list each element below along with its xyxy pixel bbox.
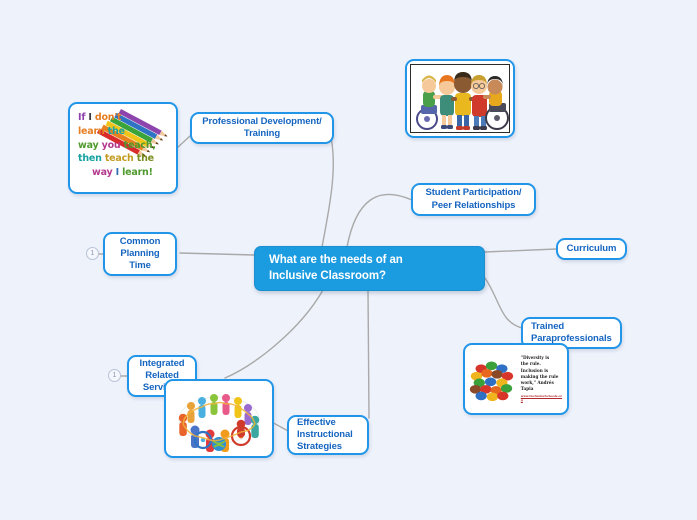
quote-word: the — [108, 126, 125, 137]
central-topic[interactable]: What are the needs of an Inclusive Class… — [254, 246, 485, 291]
diversity-quote-text: "Diversity is the rule. Inclusion is mak… — [519, 355, 564, 402]
quote-word: I — [116, 167, 119, 178]
candy-pile-graphic — [468, 348, 519, 410]
edge-trained-paraprofessionals — [485, 278, 522, 328]
quote-word: way — [92, 167, 113, 178]
node-professional-development-line2: Training — [202, 128, 321, 140]
children-circle-clipart — [169, 384, 269, 453]
pencil-quote-text: If I don't learn the way you teach, then… — [78, 111, 156, 180]
node-student-participation-line1: Student Participation/ — [426, 187, 522, 199]
pencil-quote-image: If I don't learn the way you teach, then… — [73, 107, 173, 189]
quote-word: way — [78, 140, 99, 151]
diverse-students-clipart — [410, 64, 510, 133]
node-common-planning-time-line2: Planning — [120, 248, 161, 260]
diversity-quote-image-card[interactable]: "Diversity is the rule. Inclusion is mak… — [463, 343, 569, 415]
node-curriculum[interactable]: Curriculum — [556, 238, 627, 260]
node-student-participation-line2: Peer Relationships — [426, 200, 522, 212]
students-group-graphic — [411, 65, 510, 133]
edge-curriculum — [485, 249, 556, 252]
edge-integrated-related-services — [225, 290, 323, 378]
node-common-planning-time-line3: Time — [120, 260, 161, 272]
central-topic-line1: What are the needs of an — [269, 253, 403, 268]
node-curriculum-label: Curriculum — [567, 243, 617, 255]
children-circle-graphic — [169, 384, 269, 453]
pencil-quote-image-card[interactable]: If I don't learn the way you teach, then… — [68, 102, 178, 194]
quote-word: the — [137, 153, 154, 164]
edge-effective-instructional-strategies — [368, 290, 369, 418]
mindmap-canvas[interactable]: What are the needs of an Inclusive Class… — [0, 0, 697, 520]
diverse-students-image-card[interactable] — [405, 59, 515, 138]
edge-professional-development — [322, 133, 333, 247]
edge-student-participation — [347, 194, 412, 247]
quote-word: If — [78, 112, 85, 123]
diversity-quote-line4: making the rule — [521, 374, 564, 380]
quote-word: you — [102, 140, 121, 151]
edge-pencil-quote-image — [177, 136, 190, 148]
quote-word: learn — [78, 126, 105, 137]
node-professional-development[interactable]: Professional Development/ Training — [190, 112, 334, 144]
quote-word: then — [78, 153, 102, 164]
quote-word: don't — [95, 112, 122, 123]
node-professional-development-line1: Professional Development/ — [202, 116, 321, 128]
node-student-participation[interactable]: Student Participation/ Peer Relationship… — [411, 183, 536, 216]
node-common-planning-time-line1: Common — [120, 236, 161, 248]
node-effective-instructional-strategies-line1: Effective — [297, 417, 353, 429]
node-integrated-related-services-line1: Integrated — [140, 358, 185, 370]
quote-word: teach, — [124, 140, 156, 151]
edge-common-planning-time — [180, 253, 254, 255]
quote-word: I — [88, 112, 91, 123]
central-topic-line2: Inclusive Classroom? — [269, 269, 403, 284]
collapse-marker-common-planning-time[interactable]: 1 — [86, 247, 99, 260]
children-circle-image-card[interactable] — [164, 379, 274, 458]
node-trained-paraprofessionals-line1: Trained — [531, 321, 612, 333]
collapse-marker-common-planning-time-count: 1 — [91, 250, 95, 257]
diversity-quote-url[interactable]: www.InclusiveSchools.org — [521, 394, 564, 403]
node-common-planning-time[interactable]: Common Planning Time — [103, 232, 177, 276]
quote-word: teach — [105, 153, 134, 164]
edge-students-photo — [338, 100, 404, 118]
diversity-quote-line6: Tapia — [521, 386, 564, 392]
diversity-quote-image: "Diversity is the rule. Inclusion is mak… — [468, 348, 564, 410]
node-effective-instructional-strategies-line3: Strategies — [297, 441, 353, 453]
node-effective-instructional-strategies-line2: Instructional — [297, 429, 353, 441]
collapse-marker-integrated-related-services-count: 1 — [113, 372, 117, 379]
collapse-marker-integrated-related-services[interactable]: 1 — [108, 369, 121, 382]
quote-word: learn! — [122, 167, 153, 178]
node-effective-instructional-strategies[interactable]: Effective Instructional Strategies — [287, 415, 369, 455]
